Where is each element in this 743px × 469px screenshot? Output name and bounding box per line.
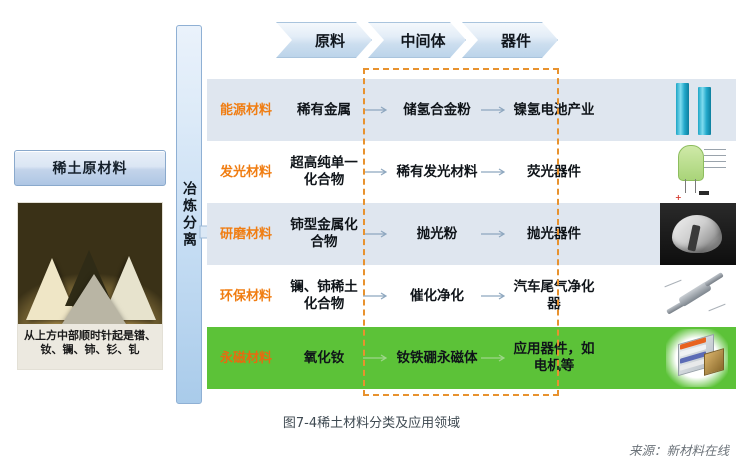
smelting-separation-label: 冶炼分离 bbox=[180, 181, 198, 249]
arrow-right-icon bbox=[481, 229, 511, 239]
arrow-right-icon bbox=[481, 353, 511, 363]
led-lead-icon bbox=[685, 179, 686, 193]
row-intermediate: 抛光粉 bbox=[393, 226, 481, 243]
row-category-label: 能源材料 bbox=[207, 103, 285, 118]
row-intermediate: 钕铁硼永磁体 bbox=[393, 350, 481, 367]
arrow-right-icon bbox=[363, 167, 393, 177]
stage-chevron-device: 器件 bbox=[462, 22, 558, 58]
row-device: 汽车尾气净化器 bbox=[511, 279, 597, 313]
annotation-line bbox=[708, 304, 725, 312]
row-raw-material: 超高纯单一化合物 bbox=[285, 155, 363, 189]
row-thumbnail-electric-motor bbox=[656, 327, 736, 389]
rare-earth-photo: 从上方中部顺时针起是镨、钕、镧、铈、钐、钆 bbox=[17, 202, 163, 370]
battery-icon bbox=[676, 83, 689, 135]
table-row: 发光材料 超高纯单一化合物 稀有发光材料 荧光器件 + bbox=[207, 141, 736, 203]
row-category-label: 发光材料 bbox=[207, 165, 285, 180]
row-intermediate: 稀有发光材料 bbox=[393, 164, 481, 181]
figure-canvas: 稀土原材料 从上方中部顺时针起是镨、钕、镧、铈、钐、钆 冶炼分离 原料 中间体 … bbox=[0, 0, 743, 469]
row-device: 应用器件，如电机等 bbox=[511, 341, 597, 375]
row-category-label: 研磨材料 bbox=[207, 227, 285, 242]
row-device: 荧光器件 bbox=[511, 164, 597, 181]
led-lead-icon bbox=[695, 179, 696, 193]
smelting-separation-bar: 冶炼分离 bbox=[176, 25, 202, 404]
source-note: 来源：新材料在线 bbox=[629, 440, 729, 459]
row-raw-material: 铈型金属化合物 bbox=[285, 217, 363, 251]
table-row: 研磨材料 铈型金属化合物 抛光粉 抛光器件 bbox=[207, 203, 736, 265]
led-annotation-lines bbox=[704, 147, 728, 175]
row-thumbnail-nimh-battery bbox=[656, 79, 736, 141]
arrow-right-icon bbox=[363, 291, 393, 301]
annotation-line bbox=[664, 280, 681, 288]
stage-chevron-intermediate: 中间体 bbox=[368, 22, 466, 58]
figure-caption: 图7-4稀土材料分类及应用领域 bbox=[0, 412, 743, 431]
row-category-label: 永磁材料 bbox=[207, 351, 285, 366]
arrow-right-icon bbox=[481, 105, 511, 115]
plus-polarity-icon: + bbox=[675, 193, 682, 202]
arrow-right-icon bbox=[363, 353, 393, 363]
table-row: 能源材料 稀有金属 储氢合金粉 镍氢电池产业 bbox=[207, 79, 736, 141]
stage-chevron-raw: 原料 bbox=[276, 22, 372, 58]
row-device: 镍氢电池产业 bbox=[511, 102, 597, 119]
row-thumbnail-catalytic-converter bbox=[656, 265, 736, 327]
motor-housing-icon bbox=[704, 348, 724, 376]
powder-pile-icon bbox=[62, 274, 126, 324]
raw-material-panel: 稀土原材料 从上方中部顺时针起是镨、钕、镧、铈、钐、钆 bbox=[14, 150, 166, 375]
row-thumbnail-polishing-part bbox=[656, 203, 736, 265]
row-raw-material: 氧化钕 bbox=[285, 350, 363, 367]
table-row: 环保材料 镧、铈稀土化合物 催化净化 汽车尾气净化器 bbox=[207, 265, 736, 327]
battery-icon bbox=[698, 87, 711, 135]
exhaust-pipe-icon bbox=[704, 272, 724, 287]
raw-material-box: 稀土原材料 bbox=[14, 150, 166, 186]
row-raw-material: 镧、铈稀土化合物 bbox=[285, 279, 363, 313]
arrow-right-icon bbox=[363, 229, 393, 239]
row-intermediate: 催化净化 bbox=[393, 288, 481, 305]
row-device: 抛光器件 bbox=[511, 226, 597, 243]
arrow-right-icon bbox=[363, 105, 393, 115]
arrow-right-icon bbox=[481, 291, 511, 301]
minus-polarity-icon bbox=[699, 191, 709, 195]
arrow-right-icon bbox=[481, 167, 511, 177]
led-icon bbox=[678, 145, 704, 181]
row-intermediate: 储氢合金粉 bbox=[393, 102, 481, 119]
material-matrix: 能源材料 稀有金属 储氢合金粉 镍氢电池产业 发光材料 超高纯单一化合物 bbox=[207, 79, 736, 389]
row-thumbnail-led-diagram: + bbox=[656, 141, 736, 203]
photo-caption: 从上方中部顺时针起是镨、钕、镧、铈、钐、钆 bbox=[18, 325, 162, 357]
row-raw-material: 稀有金属 bbox=[285, 102, 363, 119]
table-row: 永磁材料 氧化钕 钕铁硼永磁体 应用器件，如电机等 bbox=[207, 327, 736, 389]
rare-earth-powder-image bbox=[18, 203, 162, 324]
row-category-label: 环保材料 bbox=[207, 289, 285, 304]
